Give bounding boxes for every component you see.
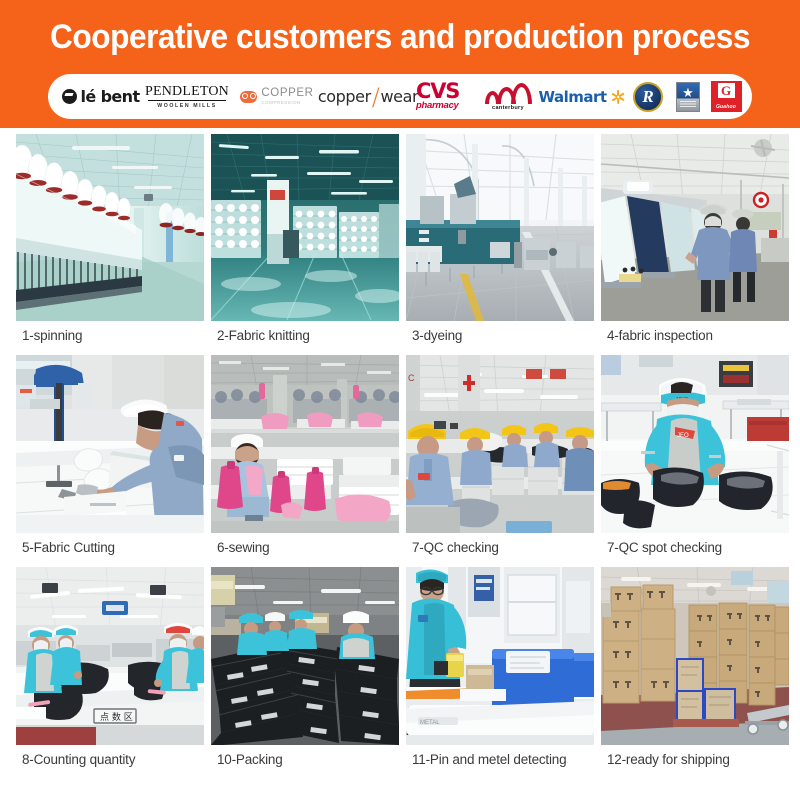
logo-copper-sublabel: COMPRESSION <box>261 101 313 105</box>
svg-text:JEO: JEO <box>677 433 689 439</box>
logo-guahoo-letter: G <box>718 83 735 98</box>
gallery-cell[interactable]: METAL 11-Pin and metel detecting <box>406 567 594 776</box>
logo-guahoo: G Guahoo <box>706 80 746 114</box>
canterbury-arcs-icon <box>485 83 531 104</box>
gallery-cell[interactable]: 1-spinning <box>16 134 204 352</box>
gallery-cell[interactable]: 5-Fabric Cutting <box>16 355 204 564</box>
photo-qc-spot-checking-worker-table: JEO JEO <box>601 355 789 533</box>
gallery-row: 5-Fabric Cutting <box>16 355 784 564</box>
photo-caption: 8-Counting quantity <box>16 745 204 776</box>
guahoo-box-icon: G Guahoo <box>711 81 742 112</box>
photo-caption: 10-Packing <box>211 745 399 776</box>
photo-caption: 3-dyeing <box>406 321 594 352</box>
walmart-spark-icon <box>610 89 626 105</box>
logo-blue-star-card: ★ <box>670 80 706 114</box>
logo-r-label: R <box>642 88 653 105</box>
logo-r-badge: R <box>626 80 670 114</box>
page-title: Cooperative customers and production pro… <box>28 18 772 57</box>
logo-guahoo-label: Guahoo <box>716 104 736 110</box>
gallery-cell[interactable]: 6-sewing <box>211 355 399 564</box>
photo-caption: 1-spinning <box>16 321 204 352</box>
logo-lebent-label: lé bent <box>80 87 139 106</box>
logo-canterbury: canterbury <box>478 80 538 114</box>
gallery-cell[interactable]: 点 数 区 8-Counting quantity <box>16 567 204 776</box>
copper-rings-icon <box>240 91 257 103</box>
photo-spinning-mill-yarn-bobbins <box>16 134 204 321</box>
photo-sewing-floor-pink-garments <box>211 355 399 533</box>
logo-cvs-label: CVS <box>416 82 459 101</box>
photo-packing-stacked-poly-bags <box>211 567 399 745</box>
photo-metal-detector-conveyor-operator: METAL <box>406 567 594 745</box>
gallery-cell[interactable]: 12-ready for shipping <box>601 567 789 776</box>
svg-text:点 数 区: 点 数 区 <box>100 711 133 723</box>
logo-copper-label: COPPER <box>261 88 313 100</box>
blue-star-card-icon: ★ <box>676 82 700 112</box>
svg-text:C: C <box>408 373 415 383</box>
pendleton-rule <box>148 100 226 101</box>
photo-counting-quantity-workers-tables: 点 数 区 <box>16 567 204 745</box>
photo-caption: 5-Fabric Cutting <box>16 533 204 564</box>
header-banner: Cooperative customers and production pro… <box>0 0 800 128</box>
logo-walmart-label: Walmart <box>538 88 606 106</box>
gallery-row: 1-spinning <box>16 134 784 352</box>
logo-copper-compression: COPPER COMPRESSION <box>234 80 320 114</box>
logo-pendleton-sublabel: WOOLEN MILLS <box>157 103 217 109</box>
photo-worker-cutting-fabric-band-saw <box>16 355 204 533</box>
customer-logo-bar: lé bent PENDLETON WOOLEN MILLS COPPER CO… <box>48 74 752 119</box>
gallery-cell[interactable]: 3-dyeing <box>406 134 594 352</box>
photo-caption: 7-QC checking <box>406 533 594 564</box>
photo-caption: 4-fabric inspection <box>601 321 789 352</box>
logo-cvs-pharmacy: CVS pharmacy <box>416 80 478 114</box>
logo-lebent: lé bent <box>62 80 140 114</box>
photo-dyeing-machine-line <box>406 134 594 321</box>
logo-cvs-sublabel: pharmacy <box>416 101 458 111</box>
gallery-cell[interactable]: 4-fabric inspection <box>601 134 789 352</box>
lebent-mark-icon <box>62 89 77 104</box>
gallery-row: 点 数 区 8-Counting quantity <box>16 567 784 776</box>
photo-qc-checking-yellow-caps-line: C <box>406 355 594 533</box>
logo-copperwear-slash: / <box>372 83 380 111</box>
photo-caption: 7-QC spot checking <box>601 533 789 564</box>
card-lines <box>680 101 696 108</box>
poster-page: Cooperative customers and production pro… <box>0 0 800 800</box>
svg-text:METAL: METAL <box>420 720 440 726</box>
gallery-cell[interactable]: 10-Packing <box>211 567 399 776</box>
photo-fabric-knitting-machine-hall <box>211 134 399 321</box>
photo-caption: 2-Fabric knitting <box>211 321 399 352</box>
photo-caption: 12-ready for shipping <box>601 745 789 776</box>
logo-canterbury-label: canterbury <box>492 105 524 111</box>
logo-walmart: Walmart <box>538 80 626 114</box>
logo-star-label: ★ <box>682 87 694 98</box>
logo-copperwear-label-1: copper <box>318 87 371 106</box>
photo-caption: 11-Pin and metel detecting <box>406 745 594 776</box>
logo-pendleton: PENDLETON WOOLEN MILLS <box>140 80 234 114</box>
photo-caption: 6-sewing <box>211 533 399 564</box>
photo-warehouse-cartons-ready-shipping <box>601 567 789 745</box>
logo-pendleton-label: PENDLETON <box>145 85 229 99</box>
production-process-gallery: 1-spinning <box>0 128 800 779</box>
photo-fabric-inspection-lightbox-workers <box>601 134 789 321</box>
gallery-cell[interactable]: JEO JEO <box>601 355 789 564</box>
logo-copperwear-label-2: wear <box>380 87 418 106</box>
r-badge-icon: R <box>633 82 663 112</box>
gallery-cell[interactable]: 2-Fabric knitting <box>211 134 399 352</box>
gallery-cell[interactable]: C <box>406 355 594 564</box>
logo-copperwear: copper / wear <box>320 80 416 114</box>
